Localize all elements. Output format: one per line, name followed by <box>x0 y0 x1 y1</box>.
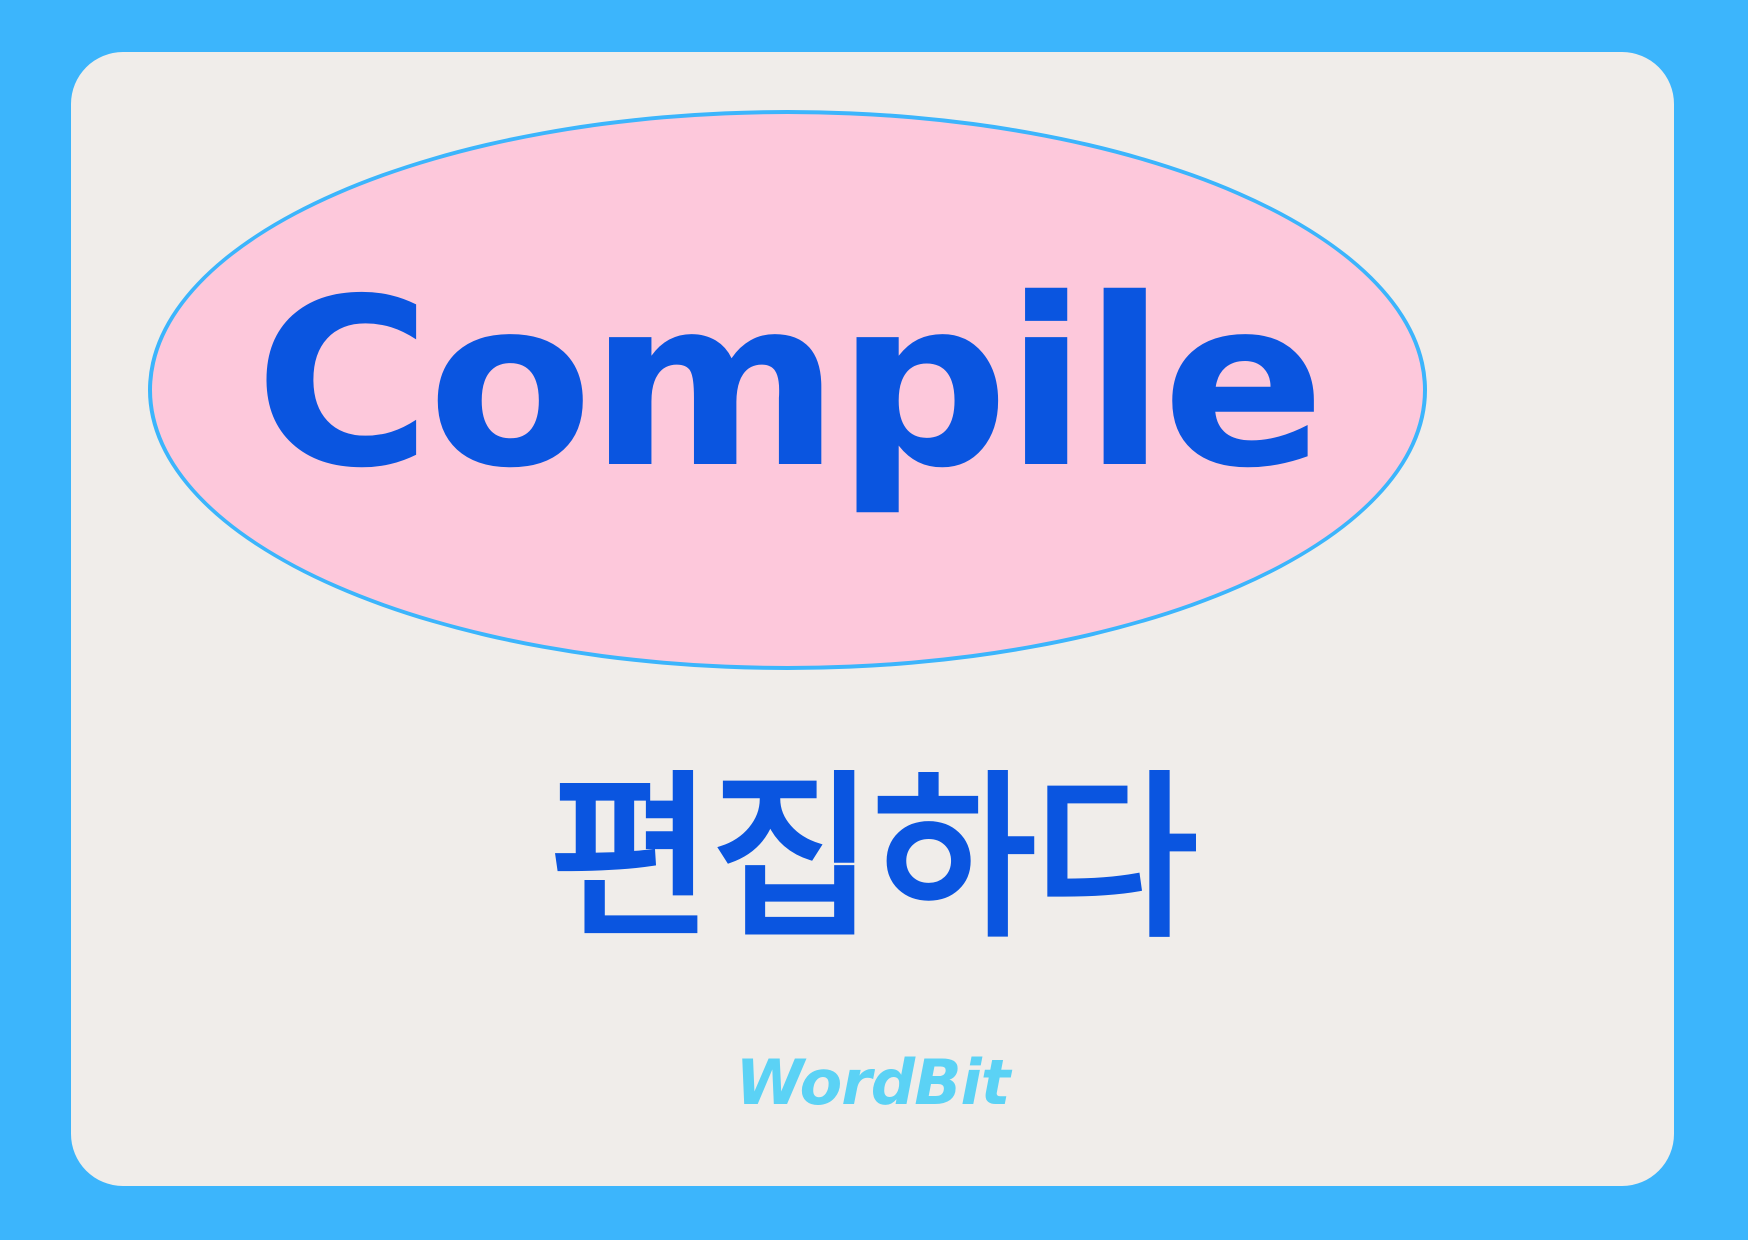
flashcard-screen: Compile 편집하다 WordBit <box>0 0 1748 1240</box>
word-term: Compile <box>254 268 1321 500</box>
flashcard-card[interactable]: Compile 편집하다 WordBit <box>71 52 1674 1186</box>
brand-logo[interactable]: WordBit <box>71 1052 1674 1114</box>
term-ellipse-badge: Compile <box>148 110 1427 670</box>
word-translation: 편집하다 <box>71 770 1674 948</box>
